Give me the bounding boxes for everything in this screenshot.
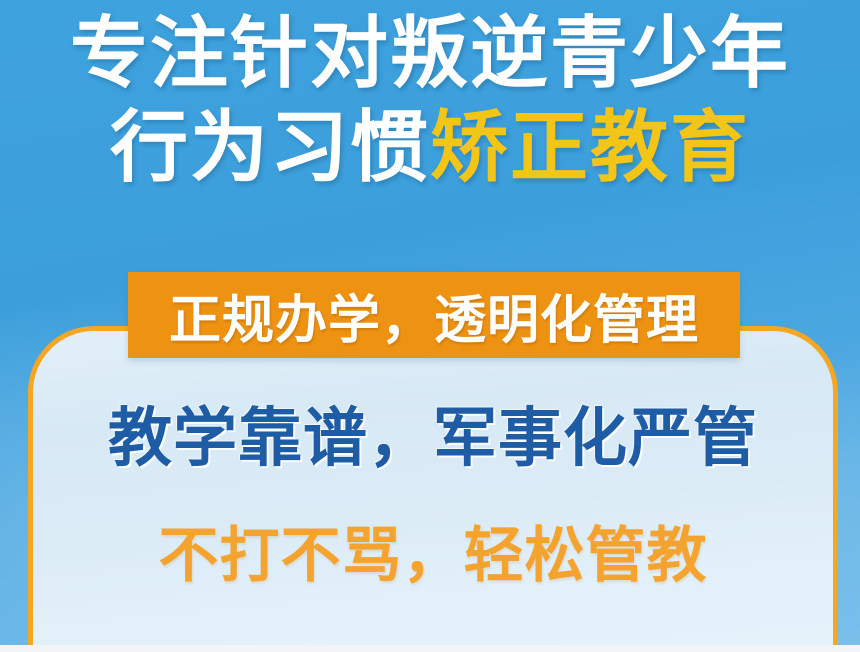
card-line-dark-blue: 教学靠谱，军事化严管 [33,387,833,479]
highlight-ribbon: 正规办学，透明化管理 [128,272,740,358]
headline-line-2: 行为习惯矫正教育 [0,108,860,186]
feature-card: 教学靠谱，军事化严管 不打不骂，轻松管教 [28,326,838,652]
promo-poster: 专注针对叛逆青少年 行为习惯矫正教育 教学靠谱，军事化严管 不打不骂，轻松管教 … [0,0,860,652]
headline-line-2-yellow-part: 矫正教育 [430,103,750,191]
highlight-ribbon-text: 正规办学，透明化管理 [169,278,699,353]
headline-line-2-white-part: 行为习惯 [110,103,430,191]
headline-line-1: 专注针对叛逆青少年 [0,14,860,92]
card-line-orange: 不打不骂，轻松管教 [33,507,833,594]
bottom-strip [0,645,860,652]
headline-block: 专注针对叛逆青少年 行为习惯矫正教育 [0,14,860,186]
